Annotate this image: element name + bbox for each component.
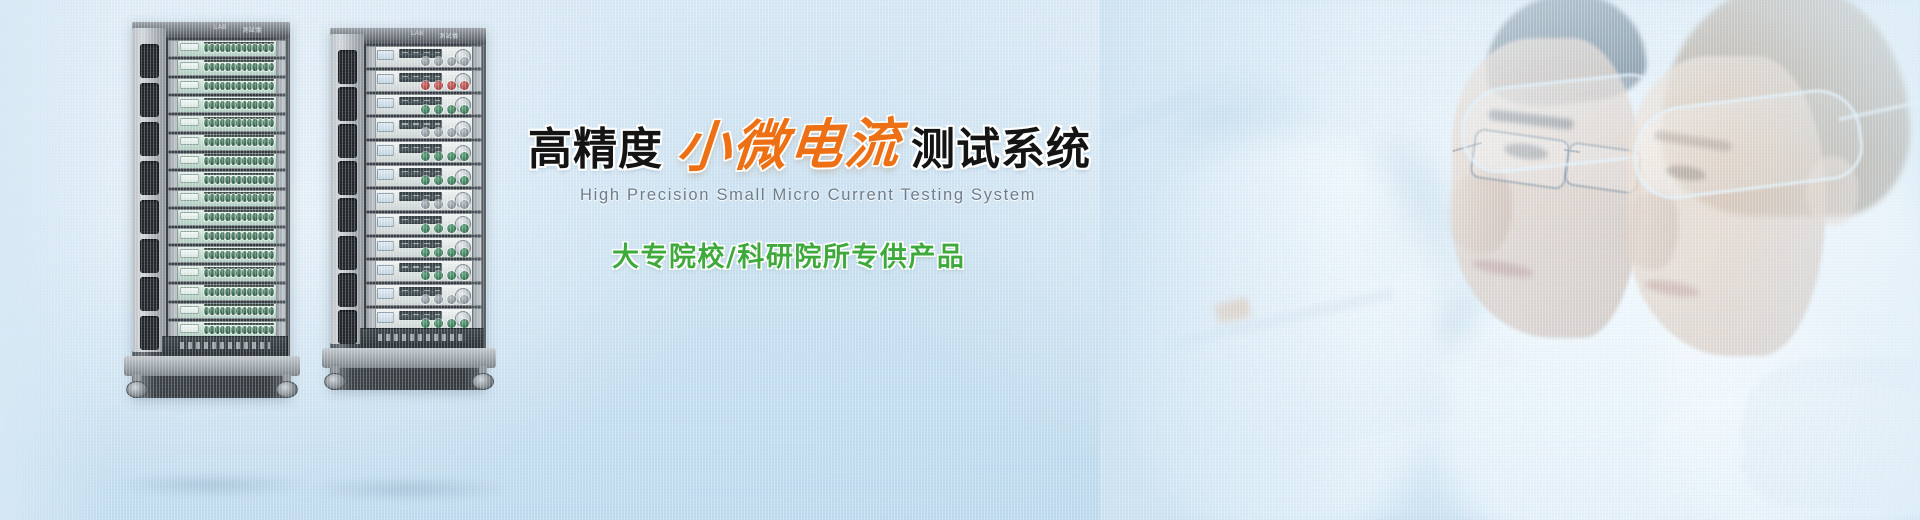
rack-module-connector-panel	[168, 209, 286, 226]
rack-ear	[367, 190, 376, 210]
connector-port	[236, 251, 241, 259]
connector-port	[263, 251, 268, 259]
connector-port-row	[204, 155, 274, 167]
rack-ear	[276, 285, 285, 300]
connector-port	[263, 194, 268, 202]
module-display	[180, 268, 199, 276]
connector-port-row	[204, 323, 274, 335]
connector-port	[236, 119, 241, 127]
post-cutout	[140, 83, 159, 117]
module-display	[180, 212, 199, 220]
rack-ear	[169, 41, 178, 56]
rack-plinth	[360, 328, 484, 350]
rack-shadow	[308, 476, 512, 502]
rack-ear	[276, 79, 285, 94]
connector-port-row	[204, 42, 274, 54]
rack-ear	[367, 214, 376, 234]
headline-part1: 高精度	[528, 128, 663, 172]
rack-ear	[276, 172, 285, 187]
connector-port-row	[204, 98, 274, 110]
rack-ear	[169, 247, 178, 262]
plinth-vent-strip	[378, 334, 466, 341]
post-cutout	[140, 239, 159, 273]
connector-port	[236, 63, 241, 71]
rack-instrument-panels: LAB 測試儀	[330, 28, 486, 390]
post-cutout	[338, 236, 357, 270]
panel-button-row	[419, 201, 471, 207]
post-cutout	[338, 310, 357, 344]
post-cutout	[140, 122, 159, 156]
connector-port-row	[204, 211, 274, 223]
panel-button	[421, 176, 430, 185]
instrument-screen	[399, 73, 442, 82]
panel-button	[447, 57, 456, 66]
rack-ear	[367, 71, 376, 91]
rack-ear	[472, 166, 481, 186]
rack-ear	[367, 142, 376, 162]
rack-ear	[276, 191, 285, 206]
panel-button	[421, 319, 430, 328]
connector-port	[209, 101, 214, 109]
connector-port-row	[204, 286, 274, 298]
connector-port	[209, 63, 214, 71]
rack-caster-wheel	[472, 366, 494, 390]
connector-port	[269, 307, 274, 315]
rack-ear	[472, 261, 481, 281]
connector-port	[263, 138, 268, 146]
module-display	[180, 43, 199, 51]
panel-button	[434, 176, 443, 185]
post-cutout	[338, 87, 357, 121]
connector-port	[263, 307, 268, 315]
panel-button-row	[419, 297, 471, 303]
module-display	[377, 122, 394, 132]
connector-port	[225, 82, 230, 90]
module-display	[377, 265, 394, 275]
panel-button	[434, 105, 443, 114]
panel-button-row	[419, 130, 471, 136]
rack-ear	[472, 95, 481, 115]
rack-module-instrument-panel	[366, 189, 482, 211]
connector-port	[236, 157, 241, 165]
module-display	[180, 193, 199, 201]
panel-button-row	[419, 249, 471, 255]
connector-port	[225, 307, 230, 315]
connector-port-row	[204, 61, 274, 73]
connector-port	[263, 232, 268, 240]
panel-button	[421, 271, 430, 280]
panel-button	[434, 271, 443, 280]
rack-module-column	[168, 40, 286, 340]
panel-button	[421, 295, 430, 304]
connector-port	[263, 288, 268, 296]
connector-port	[236, 82, 241, 90]
rack-module-connector-panel	[168, 190, 286, 207]
panel-button	[421, 152, 430, 161]
rack-ear	[169, 304, 178, 319]
rack-module-connector-panel	[168, 284, 286, 301]
rack-brand-label-right: 測試儀	[439, 31, 458, 40]
post-cutout	[338, 198, 357, 232]
instrument-screen	[399, 192, 442, 201]
rack-ear	[472, 309, 481, 329]
connector-port	[269, 269, 274, 277]
post-cutout	[338, 124, 357, 158]
connector-port-row	[204, 192, 274, 204]
rack-ear	[276, 41, 285, 56]
rack-brand-label-right: 測試儀	[243, 25, 262, 34]
panel-button	[460, 176, 469, 185]
headline: 高精度 小微电流 测试系统	[528, 118, 1088, 172]
connector-port	[269, 138, 274, 146]
panel-button	[447, 105, 456, 114]
rack-ear	[367, 166, 376, 186]
panel-button	[447, 248, 456, 257]
rack-connector-panels: LAB 測試儀	[132, 22, 290, 398]
connector-port	[209, 82, 214, 90]
connector-port	[263, 157, 268, 165]
connector-port	[263, 326, 268, 334]
panel-button	[421, 57, 430, 66]
caster-wheel	[126, 381, 148, 398]
rack-ear	[472, 190, 481, 210]
post-cutout	[338, 161, 357, 195]
rack-ear	[169, 210, 178, 225]
connector-port-row	[204, 230, 274, 242]
panel-button-row	[419, 106, 471, 112]
panel-button	[460, 319, 469, 328]
rack-ear	[367, 118, 376, 138]
rack-module-instrument-panel	[366, 308, 482, 330]
rack-ear	[169, 154, 178, 169]
panel-button	[460, 224, 469, 233]
panel-button	[447, 176, 456, 185]
rack-module-connector-panel	[168, 134, 286, 151]
connector-port	[269, 101, 274, 109]
module-display	[377, 98, 394, 108]
instrument-screen	[399, 240, 442, 249]
module-display	[180, 99, 199, 107]
rack-ear	[367, 285, 376, 305]
connector-port	[209, 138, 214, 146]
rack-ear	[276, 210, 285, 225]
rack-ear	[472, 214, 481, 234]
rack-module-column	[366, 46, 482, 332]
module-display	[180, 249, 199, 257]
rack-ear	[276, 304, 285, 319]
connector-port	[269, 63, 274, 71]
post-cutout	[338, 50, 357, 84]
rack-module-instrument-panel	[366, 284, 482, 306]
module-display	[377, 312, 394, 322]
module-display	[180, 324, 199, 332]
panel-button	[460, 81, 469, 90]
connector-port	[236, 176, 241, 184]
panel-button	[447, 319, 456, 328]
panel-button	[421, 81, 430, 90]
caster-wheel	[276, 381, 298, 398]
rack-base-plate	[124, 356, 300, 376]
connector-port-row	[204, 305, 274, 317]
rack-ear	[367, 309, 376, 329]
connector-port	[209, 194, 214, 202]
panel-button	[421, 224, 430, 233]
panel-button	[434, 295, 443, 304]
headline-part2: 测试系统	[911, 128, 1091, 172]
module-display	[377, 241, 394, 251]
panel-button	[434, 248, 443, 257]
panel-button	[460, 152, 469, 161]
connector-port	[236, 194, 241, 202]
post-cutout	[140, 277, 159, 311]
module-display	[180, 118, 199, 126]
module-display	[180, 137, 199, 145]
post-cutout	[140, 44, 159, 78]
post-cutout	[140, 200, 159, 234]
connector-port	[209, 288, 214, 296]
connector-port-row	[204, 173, 274, 185]
rack-module-instrument-panel	[366, 94, 482, 116]
connector-port	[269, 288, 274, 296]
rack-ear	[169, 322, 178, 337]
connector-port	[209, 213, 214, 221]
connector-port	[263, 101, 268, 109]
connector-port	[269, 213, 274, 221]
rack-ear	[169, 116, 178, 131]
connector-port	[209, 326, 214, 334]
module-display	[180, 231, 199, 239]
rack-ear	[276, 60, 285, 75]
connector-port	[236, 213, 241, 221]
connector-port	[236, 269, 241, 277]
rack-ear	[367, 238, 376, 258]
module-display	[377, 50, 394, 60]
connector-port	[236, 232, 241, 240]
rack-ear	[169, 285, 178, 300]
caster-wheel	[324, 373, 346, 390]
rack-ear	[472, 71, 481, 91]
rack-ear	[169, 79, 178, 94]
connector-port	[209, 157, 214, 165]
headline-highlight: 小微电流	[675, 116, 904, 175]
module-display	[180, 81, 199, 89]
rack-left-post	[330, 34, 364, 344]
rack-module-connector-panel	[168, 228, 286, 245]
connector-port	[209, 251, 214, 259]
connector-port	[263, 82, 268, 90]
panel-button-row	[419, 82, 471, 88]
rack-module-connector-panel	[168, 303, 286, 320]
module-display	[377, 193, 394, 203]
connector-port-row	[204, 267, 274, 279]
panel-button	[447, 200, 456, 209]
post-cutout	[140, 316, 159, 350]
rack-left-post	[132, 28, 166, 352]
connector-port	[269, 176, 274, 184]
module-display	[180, 174, 199, 182]
panel-button	[447, 128, 456, 137]
panel-button	[447, 271, 456, 280]
rack-module-instrument-panel	[366, 46, 482, 68]
rack-ear	[276, 247, 285, 262]
connector-port	[269, 44, 274, 52]
rack-caster-wheel	[276, 374, 298, 398]
panel-button-row	[419, 225, 471, 231]
rack-module-connector-panel	[168, 40, 286, 57]
connector-port	[209, 44, 214, 52]
rack-ear	[276, 97, 285, 112]
rack-ear	[472, 238, 481, 258]
rack-module-connector-panel	[168, 246, 286, 263]
connector-port	[269, 326, 274, 334]
post-cutout	[338, 273, 357, 307]
module-display	[180, 62, 199, 70]
panel-button	[447, 81, 456, 90]
panel-button-row	[419, 59, 471, 65]
panel-button-row	[419, 321, 471, 327]
connector-port	[263, 44, 268, 52]
rack-ear	[472, 142, 481, 162]
panel-button	[434, 200, 443, 209]
rack-plinth	[162, 336, 288, 358]
rack-ear	[169, 172, 178, 187]
rack-ear	[169, 60, 178, 75]
connector-port	[236, 326, 241, 334]
module-display	[180, 156, 199, 164]
caster-wheel	[472, 373, 494, 390]
connector-port	[225, 232, 230, 240]
rack-module-connector-panel	[168, 96, 286, 113]
connector-port	[236, 101, 241, 109]
rack-ear	[276, 135, 285, 150]
rack-ear	[367, 47, 376, 67]
rack-brand-label-left: LAB	[214, 25, 227, 31]
rack-module-instrument-panel	[366, 165, 482, 187]
module-display	[377, 169, 394, 179]
panel-button	[460, 248, 469, 257]
panel-button	[434, 128, 443, 137]
connector-port	[236, 288, 241, 296]
panel-button	[460, 57, 469, 66]
panel-button	[460, 200, 469, 209]
connector-port	[209, 307, 214, 315]
rack-ear	[169, 266, 178, 281]
instrument-screen	[399, 97, 442, 106]
rack-ear	[169, 229, 178, 244]
connector-port	[236, 307, 241, 315]
panel-button	[434, 81, 443, 90]
panel-button	[434, 319, 443, 328]
panel-button	[460, 271, 469, 280]
rack-ear	[472, 47, 481, 67]
rack-ear	[367, 261, 376, 281]
rack-ear	[169, 135, 178, 150]
connector-port-row	[204, 80, 274, 92]
connector-port	[209, 269, 214, 277]
panel-button	[434, 152, 443, 161]
module-display	[377, 74, 394, 84]
connector-port	[269, 251, 274, 259]
connector-port	[269, 232, 274, 240]
rack-ear	[276, 229, 285, 244]
rack-ear	[472, 118, 481, 138]
rack-module-connector-panel	[168, 59, 286, 76]
photo-fade-overlay	[1100, 0, 1920, 520]
rack-module-instrument-panel	[366, 141, 482, 163]
rack-ear	[276, 266, 285, 281]
connector-port	[236, 138, 241, 146]
rack-module-connector-panel	[168, 265, 286, 282]
module-display	[377, 145, 394, 155]
module-display	[377, 217, 394, 227]
tagline: 大专院校/科研院所专供产品	[612, 235, 1088, 274]
module-display	[180, 306, 199, 314]
panel-button	[460, 128, 469, 137]
connector-port	[269, 194, 274, 202]
connector-port	[209, 119, 214, 127]
connector-port	[263, 119, 268, 127]
panel-button	[447, 295, 456, 304]
panel-button	[421, 128, 430, 137]
panel-button	[421, 248, 430, 257]
module-display	[377, 288, 394, 298]
panel-button-row	[419, 178, 471, 184]
connector-port	[263, 176, 268, 184]
connector-port	[263, 213, 268, 221]
module-display	[180, 287, 199, 295]
rack-module-instrument-panel	[366, 260, 482, 282]
connector-port	[236, 44, 241, 52]
panel-button-row	[419, 154, 471, 160]
rack-ear	[276, 322, 285, 337]
rack-base-plate	[322, 348, 496, 368]
connector-port-row	[204, 117, 274, 129]
connector-port	[269, 119, 274, 127]
post-cutout	[140, 161, 159, 195]
panel-button	[434, 57, 443, 66]
rack-module-connector-panel	[168, 153, 286, 170]
rack-ear	[169, 97, 178, 112]
rack-caster-wheel	[126, 374, 148, 398]
panel-button	[447, 152, 456, 161]
subtitle-english: High Precision Small Micro Current Testi…	[580, 186, 1088, 205]
lab-scientists-photo	[1100, 0, 1920, 520]
rack-ear	[169, 191, 178, 206]
rack-ear	[276, 116, 285, 131]
connector-port-row	[204, 248, 274, 260]
panel-button-row	[419, 273, 471, 279]
instrument-screen	[399, 216, 442, 225]
rack-module-instrument-panel	[366, 70, 482, 92]
connector-port	[269, 82, 274, 90]
rack-module-connector-panel	[168, 171, 286, 188]
rack-module-connector-panel	[168, 78, 286, 95]
rack-ear	[367, 95, 376, 115]
connector-port	[263, 269, 268, 277]
rack-ear	[472, 285, 481, 305]
rack-shadow	[112, 472, 312, 498]
rack-ear	[276, 154, 285, 169]
panel-button	[421, 200, 430, 209]
connector-port	[209, 232, 214, 240]
rack-module-instrument-panel	[366, 117, 482, 139]
panel-button	[460, 105, 469, 114]
panel-button	[421, 105, 430, 114]
panel-button	[434, 224, 443, 233]
rack-module-instrument-panel	[366, 237, 482, 259]
connector-port-row	[204, 136, 274, 148]
plinth-vent-strip	[180, 342, 269, 349]
